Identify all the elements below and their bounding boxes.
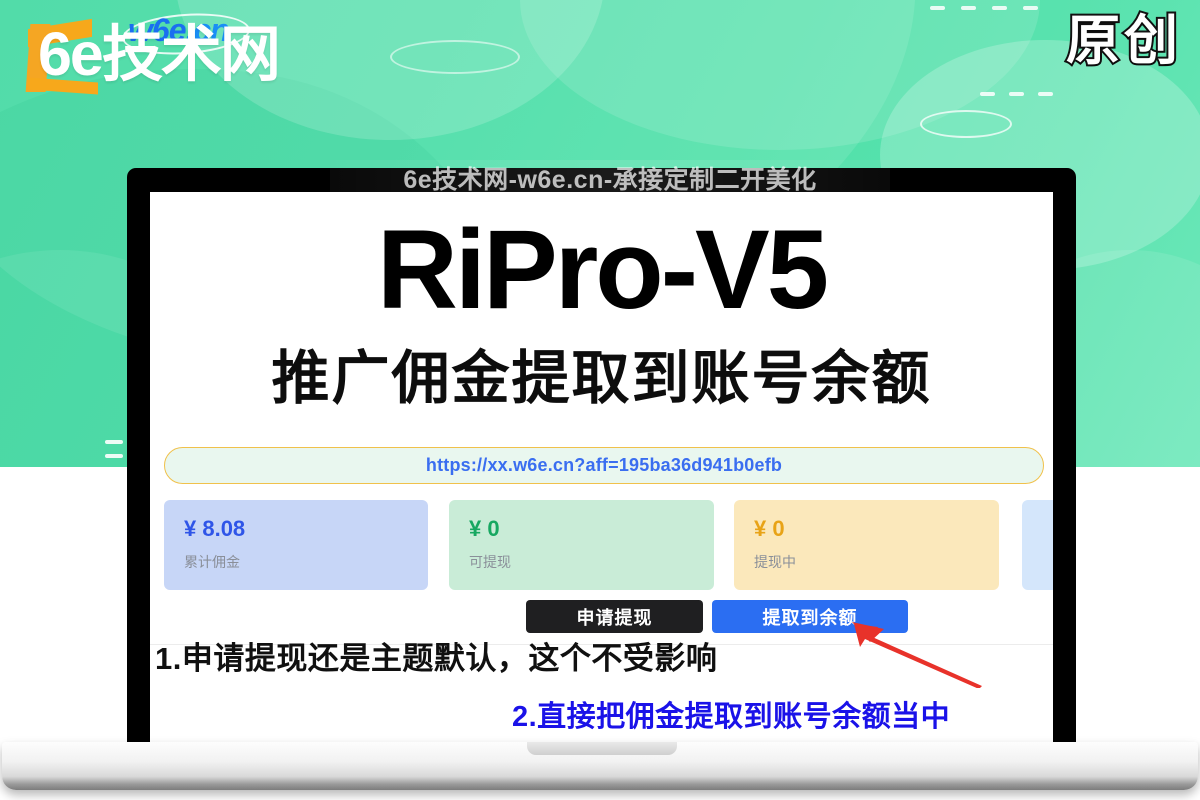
decorative-dashes [105, 440, 123, 467]
red-arrow-icon [830, 618, 990, 688]
decorative-ring [920, 110, 1012, 138]
stat-card-amount: ¥ 0 [754, 518, 999, 540]
annotation-line-2: 2.直接把佣金提取到账号余额当中 [512, 700, 950, 735]
stat-card-label: 累计佣金 [184, 555, 428, 569]
apply-withdrawal-button[interactable]: 申请提现 [526, 600, 703, 633]
stat-card-withdrawable: ¥ 0 可提现 [449, 500, 714, 590]
stat-card-label: 可提现 [469, 555, 714, 569]
annotation-line-1: 1.申请提现还是主题默认，这个不受影响 [155, 640, 717, 677]
laptop-notch [527, 742, 677, 755]
page-title: RiPro-V5 [150, 214, 1053, 326]
logo-wordmark: 6e技术网 [38, 24, 279, 85]
affiliate-link-bar[interactable]: https://xx.w6e.cn?aff=195ba36d941b0efb [164, 447, 1044, 484]
page-subtitle: 推广佣金提取到账号余额 [150, 350, 1053, 408]
original-badge: 原创 [1066, 14, 1182, 68]
stat-card-amount: ¥ 0 [469, 518, 714, 540]
stat-card-partial [1022, 500, 1053, 590]
stat-card-label: 提现中 [754, 555, 999, 569]
site-logo[interactable]: w6e.cn 6e技术网 [16, 8, 286, 100]
decorative-ring [390, 40, 520, 74]
screenshot-stage: w6e.cn 6e技术网 原创 RiPro-V5 推广佣金提取到账号余额 htt… [0, 0, 1200, 800]
affiliate-link-text[interactable]: https://xx.w6e.cn?aff=195ba36d941b0efb [426, 455, 782, 476]
decorative-dashes [980, 92, 1053, 96]
stat-card-withdrawing: ¥ 0 提现中 [734, 500, 999, 590]
decorative-dashes [930, 6, 1038, 10]
stat-card-total-commission: ¥ 8.08 累计佣金 [164, 500, 428, 590]
stat-card-amount: ¥ 8.08 [184, 518, 428, 540]
stat-card-row: ¥ 8.08 累计佣金 ¥ 0 可提现 ¥ 0 提现中 [164, 500, 1053, 590]
